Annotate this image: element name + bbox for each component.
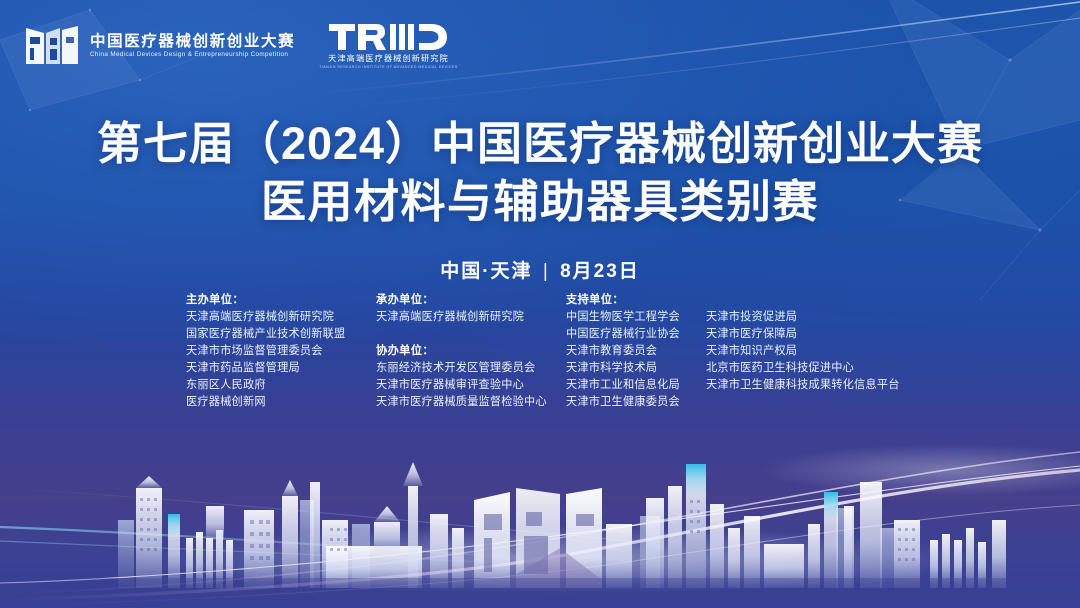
open-door-logo-icon — [24, 24, 80, 68]
secondary-logo-title-en: TIANJIN RESEARCH INSTITUTE OF ADVANCED M… — [319, 66, 458, 70]
event-date: 8月23日 — [560, 261, 640, 282]
primary-competition-logo: 中国医疗器械创新创业大赛 China Medical Devices Desig… — [24, 24, 295, 68]
org-name: 天津市工业和信息化局 — [566, 377, 706, 394]
primary-logo-title-cn: 中国医疗器械创新创业大赛 — [90, 34, 295, 50]
poster-title: 第七届（2024）中国医疗器械创新创业大赛 医用材料与辅助器具类别赛 — [0, 118, 1080, 228]
org-name: 东丽区人民政府 — [186, 377, 376, 394]
organization-columns: 主办单位：天津高端医疗器械创新研究院国家医疗器械产业技术创新联盟天津市市场监督管… — [186, 292, 946, 411]
secondary-logo-title-cn: 天津高端医疗器械创新研究院 — [328, 55, 449, 63]
org-name: 中国生物医学工程学会 — [566, 309, 706, 326]
org-name: 天津市药品监督管理局 — [186, 360, 376, 377]
org-name: 医疗器械创新网 — [186, 394, 376, 411]
org-name: 天津市医疗器械质量监督检验中心 — [376, 394, 566, 411]
org-group-heading: 支持单位： — [566, 292, 706, 309]
host-and-coorganizers-column: 承办单位：天津高端医疗器械创新研究院协办单位：东丽经济技术开发区管理委员会天津市… — [376, 292, 566, 411]
event-location: 中国·天津 — [440, 261, 532, 282]
event-meta: 中国·天津 | 8月23日 — [0, 256, 1080, 283]
org-name: 天津高端医疗器械创新研究院 — [186, 309, 376, 326]
org-name: 东丽经济技术开发区管理委员会 — [376, 360, 566, 377]
title-line-1: 第七届（2024）中国医疗器械创新创业大赛 — [0, 118, 1080, 170]
primary-logo-title-en: China Medical Devices Design & Entrepren… — [90, 52, 299, 58]
org-name: 天津市投资促进局 — [706, 309, 946, 326]
org-spacer — [376, 326, 566, 343]
header-logos: 中国医疗器械创新创业大赛 China Medical Devices Desig… — [24, 22, 458, 70]
org-group-heading: 承办单位： — [376, 292, 566, 309]
secondary-institute-logo: 天津高端医疗器械创新研究院 TIANJIN RESEARCH INSTITUTE… — [319, 22, 458, 70]
meta-separator: | — [540, 261, 553, 283]
title-line-2: 医用材料与辅助器具类别赛 — [0, 176, 1080, 228]
org-name: 天津市卫生健康科技成果转化信息平台 — [706, 377, 946, 394]
supporters-column-b: 天津市投资促进局天津市医疗保障局天津市知识产权局北京市医药卫生科技促进中心天津市… — [706, 292, 946, 394]
org-name: 天津高端医疗器械创新研究院 — [376, 309, 566, 326]
org-name: 天津市卫生健康委员会 — [566, 394, 706, 411]
org-name: 中国医疗器械行业协会 — [566, 326, 706, 343]
city-skyline-silhouette — [0, 428, 1080, 608]
poster-canvas: 中国医疗器械创新创业大赛 China Medical Devices Desig… — [0, 0, 1080, 608]
org-name: 天津市市场监督管理委员会 — [186, 343, 376, 360]
supporters-column-a: 支持单位：中国生物医学工程学会中国医疗器械行业协会天津市教育委员会天津市科学技术… — [566, 292, 706, 411]
org-name: 北京市医药卫生科技促进中心 — [706, 360, 946, 377]
org-name: 天津市教育委员会 — [566, 343, 706, 360]
org-name: 天津市医疗保障局 — [706, 326, 946, 343]
org-group-heading: 协办单位： — [376, 343, 566, 360]
org-name: 天津市科学技术局 — [566, 360, 706, 377]
org-name: 国家医疗器械产业技术创新联盟 — [186, 326, 376, 343]
organizers-column: 主办单位：天津高端医疗器械创新研究院国家医疗器械产业技术创新联盟天津市市场监督管… — [186, 292, 376, 411]
trmd-wordmark-icon — [329, 22, 447, 52]
org-name: 天津市医疗器械审评查验中心 — [376, 377, 566, 394]
org-name: 天津市知识产权局 — [706, 343, 946, 360]
org-group-heading: 主办单位： — [186, 292, 376, 309]
